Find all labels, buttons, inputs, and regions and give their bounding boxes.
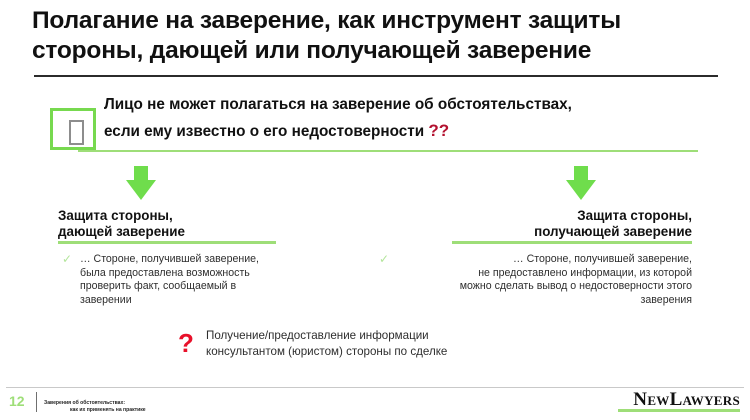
callout-question-marks: ?? — [428, 121, 449, 140]
arrow-head — [566, 180, 596, 200]
check-icon: ✓ — [62, 254, 73, 265]
footer-caption-line-2: как их применять на практике — [44, 407, 264, 414]
bottom-note-text: Получение/предоставление информации конс… — [206, 328, 536, 360]
list-item-text: … Стороне, получившей заверение, была пр… — [80, 253, 358, 307]
column-heading: Защита стороны, получающей заверение — [392, 208, 692, 240]
arrow-down-icon-left — [126, 166, 156, 200]
footer-caption: Заверения об обстоятельствах: как их при… — [44, 393, 264, 420]
column-protection-giving-party: Защита стороны, дающей заверение ✓ … Сто… — [58, 208, 358, 307]
arrow-head — [126, 180, 156, 200]
question-mark-icon: ? — [178, 330, 194, 356]
callout-banner: Лицо не может полагаться на заверение об… — [50, 92, 690, 154]
check-icon: ✓ — [378, 254, 389, 265]
column-heading-underline — [452, 241, 692, 244]
footer-divider — [6, 387, 744, 388]
tofu-box — [69, 120, 84, 145]
column-heading-underline — [58, 241, 276, 244]
footer-vertical-rule — [36, 392, 37, 412]
brand-logo-text: NewLawyers — [618, 390, 740, 410]
callout-underline — [78, 150, 698, 152]
callout-line-2: если ему известно о его недостоверности — [104, 123, 428, 140]
missing-glyph-placeholder-icon — [50, 108, 96, 150]
column-protection-receiving-party: Защита стороны, получающей заверение ✓ …… — [392, 208, 692, 307]
column-heading: Защита стороны, дающей заверение — [58, 208, 358, 240]
slide-canvas: Полагание на заверение, как инструмент з… — [0, 0, 750, 420]
list-item-text: … Стороне, получившей заверение, не пред… — [414, 253, 692, 307]
callout-line-1: Лицо не может полагаться на заверение об… — [104, 96, 572, 113]
callout-text: Лицо не может полагаться на заверение об… — [104, 92, 704, 145]
title-divider — [34, 75, 718, 77]
brand-logo: NewLawyers — [618, 390, 740, 412]
page-title: Полагание на заверение, как инструмент з… — [32, 6, 722, 66]
list-item: ✓ … Стороне, получившей заверение, не пр… — [392, 253, 692, 307]
arrow-down-icon-right — [566, 166, 596, 200]
list-item: ✓ … Стороне, получившей заверение, была … — [58, 253, 358, 307]
footer-caption-line-1: Заверения об обстоятельствах: — [44, 400, 125, 406]
page-number: 12 — [9, 393, 25, 409]
